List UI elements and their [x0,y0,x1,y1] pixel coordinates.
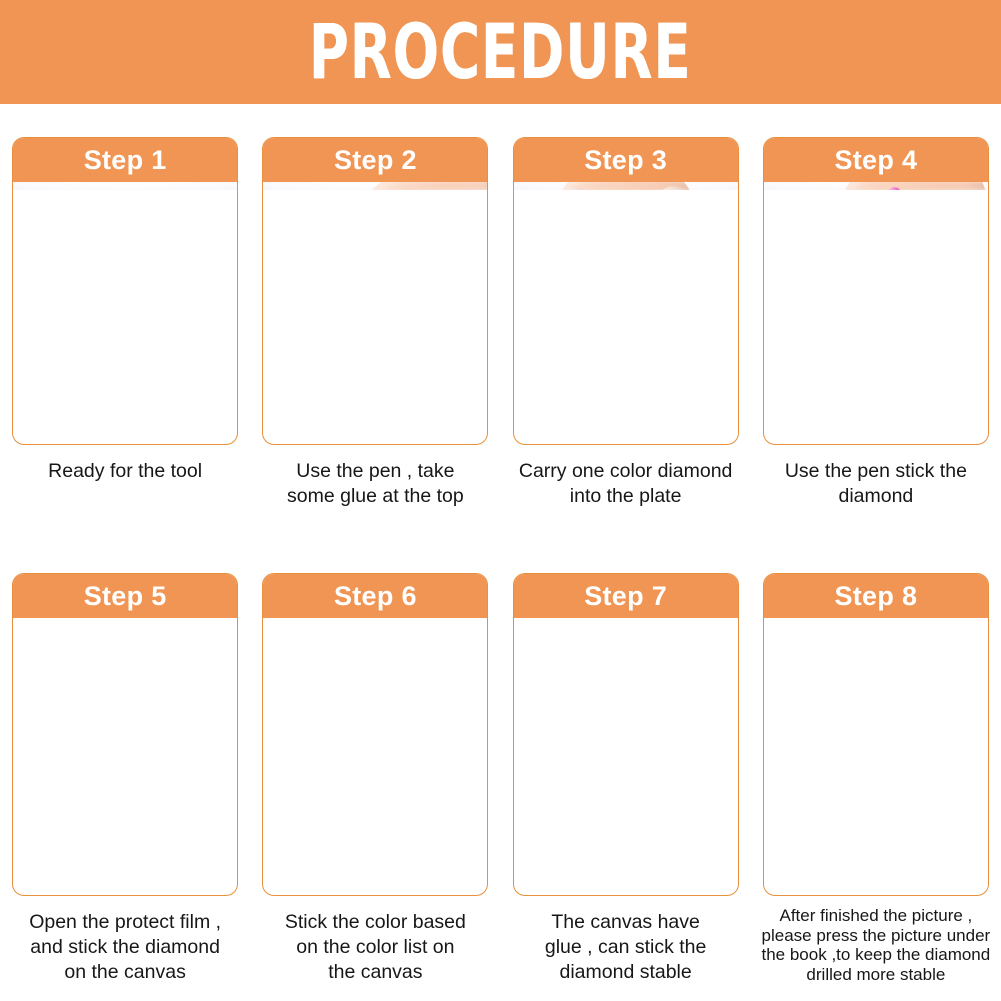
steps-row-top: Step 1 [0,137,1001,509]
step-header-2: Step 2 [263,138,487,182]
step-caption-2: Use the pen , take some glue at the top [257,459,493,509]
page-banner: PROCEDURE [0,0,1001,104]
step-photo-2 [263,182,487,190]
step-header-3: Step 3 [514,138,738,182]
step-card-7[interactable]: Step 7 [513,573,739,896]
steps-row-bottom: Step 5 Open the protect film , and stic [0,573,1001,985]
step-caption-6: Stick the color based on the color list … [257,910,493,985]
page-title: PROCEDURE [309,14,692,90]
step-photo-1 [13,182,237,190]
procedure-page: PROCEDURE Step 1 [0,0,1001,1001]
step-cell-8: Step 8 [751,573,1001,985]
step-card-8[interactable]: Step 8 [763,573,989,896]
photo-pen-picking-diamond [764,182,988,190]
step-photo-4 [764,182,988,190]
step-cell-3: Step 3 [501,137,751,509]
step-card-4[interactable]: Step 4 [763,137,989,445]
step-caption-4: Use the pen stick the diamond [758,459,994,509]
photo-pen-dipping-glue [263,182,487,190]
step-header-8: Step 8 [764,574,988,618]
step-header-5: Step 5 [13,574,237,618]
step-caption-7: The canvas have glue , can stick the dia… [508,910,744,985]
step-header-6: Step 6 [263,574,487,618]
step-caption-8: After finished the picture , please pres… [752,906,1000,985]
step-header-4: Step 4 [764,138,988,182]
step-caption-5: Open the protect film , and stick the di… [7,910,243,985]
step-card-3[interactable]: Step 3 [513,137,739,445]
step-card-2[interactable]: Step 2 [262,137,488,445]
photo-red-diamonds-in-tray [514,182,738,190]
step-cell-5: Step 5 Open the protect film , and stic [0,573,250,985]
step-cell-6: Step 6 No.SymbolDMC121300323074331054581… [250,573,500,985]
step-header-1: Step 1 [13,138,237,182]
photo-tools-pen-glue-tray [13,182,237,190]
step-card-6[interactable]: Step 6 No.SymbolDMC121300323074331054581… [262,573,488,896]
step-card-1[interactable]: Step 1 [12,137,238,445]
step-photo-3 [514,182,738,190]
step-caption-3: Carry one color diamond into the plate [508,459,744,509]
step-cell-4: Step 4 [751,137,1001,509]
step-cell-2: Step 2 [250,137,500,509]
step-cell-1: Step 1 [0,137,250,509]
step-caption-1: Ready for the tool [7,459,243,484]
step-cell-7: Step 7 The canvas have glue , can stick [501,573,751,985]
step-header-7: Step 7 [514,574,738,618]
step-card-5[interactable]: Step 5 [12,573,238,896]
